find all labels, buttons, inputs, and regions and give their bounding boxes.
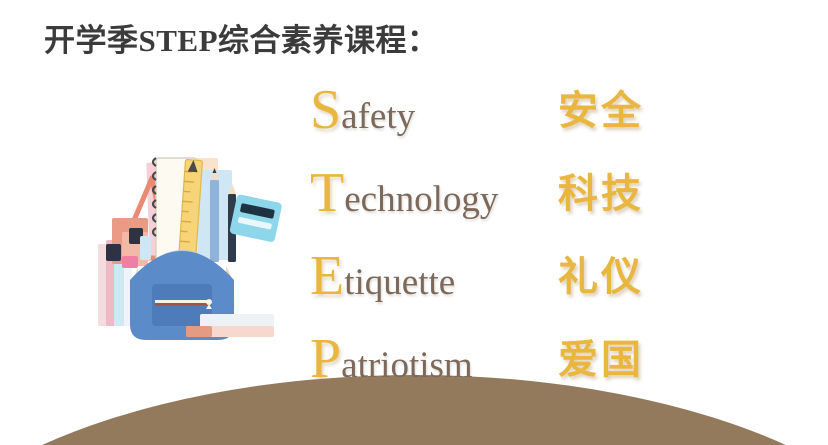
backpack-illustration xyxy=(82,140,282,340)
eraser-icon-3 xyxy=(122,256,138,268)
marker-icon xyxy=(140,236,151,260)
step-chinese-patriotism: 爱国 xyxy=(558,333,644,387)
step-chinese-etiquette: 礼仪 xyxy=(558,250,644,304)
step-row-etiquette: Etiquette 礼仪 xyxy=(310,250,644,333)
step-chinese-safety: 安全 xyxy=(558,84,644,138)
step-capital-p: P xyxy=(310,328,341,390)
step-rest-safety: afety xyxy=(341,96,415,137)
step-row-technology: Technology 科技 xyxy=(310,167,644,250)
step-chinese-technology: 科技 xyxy=(558,167,644,221)
step-row-patriotism: Patriotism 爱国 xyxy=(310,333,644,416)
step-english-patriotism: Patriotism xyxy=(310,333,558,392)
step-row-safety: Safety 安全 xyxy=(310,84,644,167)
page-title: 开学季STEP综合素养课程： xyxy=(44,15,439,60)
pencil-icon-1 xyxy=(210,168,219,262)
eraser-icon-1 xyxy=(106,244,121,261)
step-english-technology: Technology xyxy=(310,167,558,226)
step-rest-technology: echnology xyxy=(344,179,498,220)
step-rest-patriotism: atriotism xyxy=(341,345,473,386)
step-capital-s: S xyxy=(310,79,341,141)
step-capital-e: E xyxy=(310,245,344,307)
step-english-safety: Safety xyxy=(310,84,558,143)
calculator-icon xyxy=(229,194,282,243)
step-acronym-list: Safety 安全 Technology 科技 Etiquette 礼仪 Pat… xyxy=(310,84,644,416)
step-rest-etiquette: tiquette xyxy=(344,262,455,303)
step-capital-t: T xyxy=(310,162,344,224)
slide-canvas: 开学季STEP综合素养课程： xyxy=(0,0,828,445)
step-english-etiquette: Etiquette xyxy=(310,250,558,309)
